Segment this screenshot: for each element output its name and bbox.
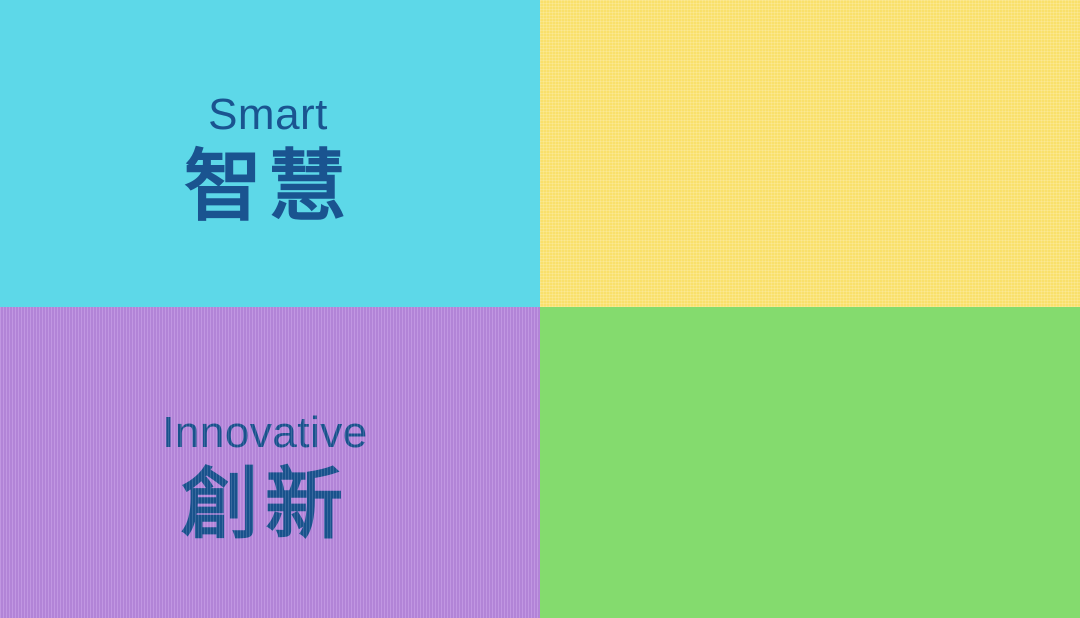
quadrant-smart[interactable]: Smart 智慧: [0, 0, 540, 307]
label-block-smart: Smart 智慧: [128, 92, 408, 232]
brand-values-grid: Smart 智慧 Energetic 活力 Innovative 創新 Sust…: [0, 0, 1080, 618]
english-label-innovative: Innovative: [120, 410, 410, 456]
english-label-smart: Smart: [128, 92, 408, 138]
quadrant-energetic[interactable]: Energetic 活力: [540, 0, 1080, 307]
label-block-innovative: Innovative 創新: [120, 410, 410, 550]
chinese-label-innovative: 創新: [120, 462, 410, 549]
chinese-label-smart: 智慧: [128, 144, 408, 231]
quadrant-sustainable[interactable]: Sustainable 永續: [540, 307, 1080, 618]
quadrant-innovative[interactable]: Innovative 創新: [0, 307, 540, 618]
